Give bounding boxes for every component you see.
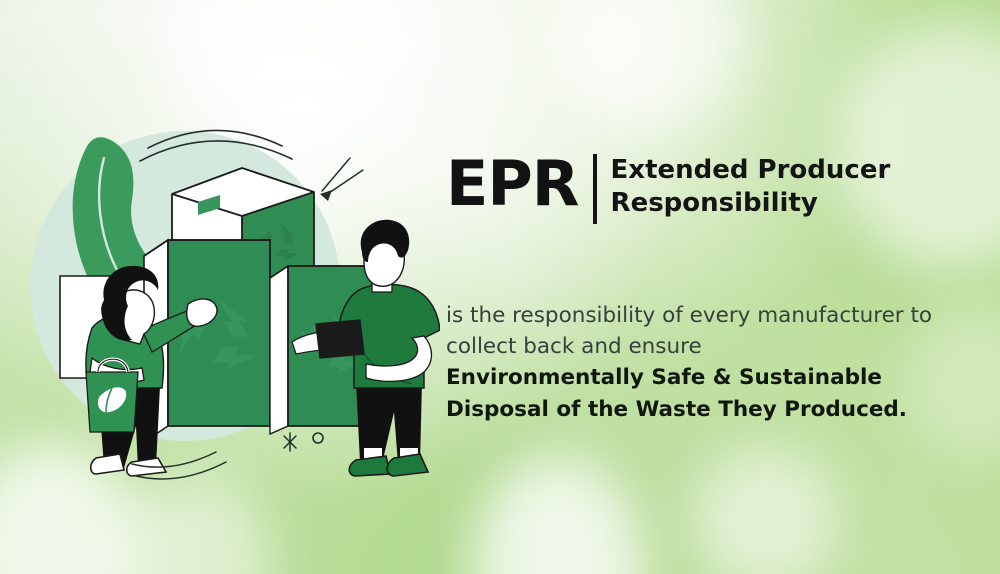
circle-dot <box>313 433 323 443</box>
epr-illustration <box>20 96 440 496</box>
headline-divider <box>593 154 597 224</box>
headline-expansion-line1: Extended Producer <box>611 154 891 187</box>
bokeh-blob <box>690 445 840 574</box>
bokeh-blob <box>560 0 740 130</box>
tablet <box>316 320 364 358</box>
bokeh-blob <box>835 20 1000 270</box>
sparkle-bottom <box>284 433 296 451</box>
body-line-2: collect back and ensure <box>446 331 976 362</box>
epr-acronym: EPR <box>446 148 579 214</box>
bokeh-blob <box>470 455 645 574</box>
headline-expansion-line2: Responsibility <box>611 187 891 220</box>
body-line-4: Disposal of the Waste They Produced. <box>446 394 976 426</box>
headline-block: EPR Extended Producer Responsibility <box>446 148 966 224</box>
body-copy: is the responsibility of every manufactu… <box>446 300 976 426</box>
headline: EPR Extended Producer Responsibility <box>446 148 966 224</box>
arrow-pointer <box>320 158 363 201</box>
epr-poster: EPR Extended Producer Responsibility is … <box>0 0 1000 574</box>
body-line-1: is the responsibility of every manufactu… <box>446 300 976 331</box>
headline-expansion: Extended Producer Responsibility <box>611 148 891 220</box>
body-line-3: Environmentally Safe & Sustainable <box>446 362 976 394</box>
